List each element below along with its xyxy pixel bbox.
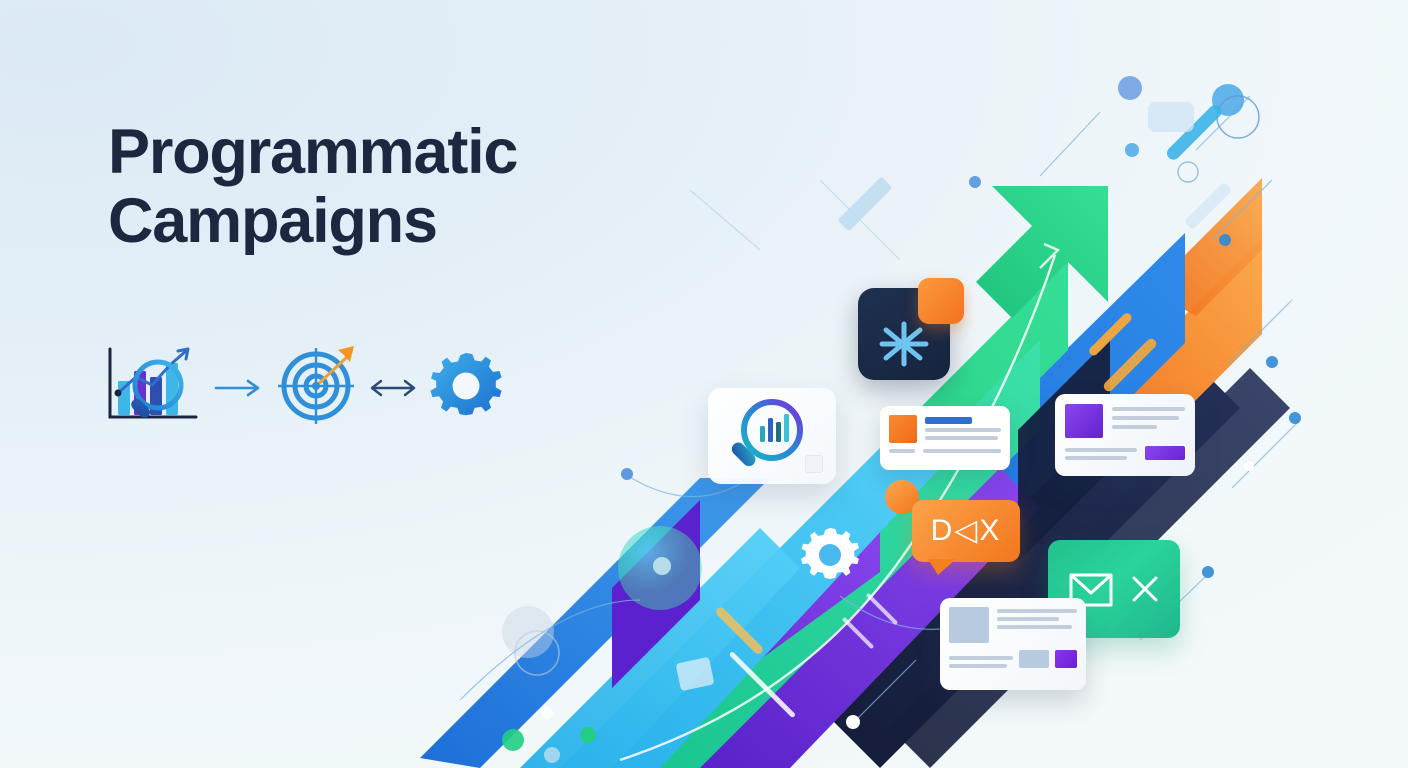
ad-text-line <box>923 449 1001 453</box>
ad-text-line <box>1112 425 1157 429</box>
bar-chart-magnifier-icon <box>100 341 204 431</box>
card-corner-square <box>805 455 823 473</box>
content-accent-block <box>1055 650 1077 668</box>
process-connector-arrow <box>210 368 268 408</box>
process-step-analytics[interactable] <box>100 341 204 436</box>
circle-grey-1 <box>502 606 554 658</box>
process-icon-row <box>100 340 500 436</box>
ad-thumbnail <box>1065 404 1103 438</box>
ad-text-line <box>1065 448 1137 452</box>
content-text-line <box>949 656 1013 660</box>
content-text-line <box>949 664 1007 668</box>
ad-text-line <box>1065 456 1127 460</box>
page-title-line-1: Programmatic <box>108 117 517 187</box>
ad-cta-button[interactable] <box>1145 446 1185 460</box>
process-step-targeting[interactable] <box>274 344 358 433</box>
ad-headline-bar <box>925 417 972 424</box>
arrow-left-right-icon <box>366 375 420 401</box>
chat-bubble-glyph: D◁X <box>931 516 1002 546</box>
gear-icon <box>428 348 504 424</box>
content-text-line <box>997 617 1059 621</box>
content-text-line <box>997 609 1077 613</box>
ad-text-line <box>1112 416 1179 420</box>
target-arrow-icon <box>274 344 358 428</box>
ad-text-line <box>889 449 915 453</box>
ad-thumbnail <box>889 415 917 443</box>
content-thumbnail <box>949 607 989 643</box>
process-step-automation[interactable] <box>428 348 504 429</box>
search-insights-card[interactable] <box>708 388 836 484</box>
content-feed-card[interactable] <box>940 598 1086 690</box>
gear-icon <box>799 524 861 586</box>
native-ad-card[interactable] <box>1055 394 1195 476</box>
display-ad-card[interactable] <box>880 406 1010 470</box>
content-image-block <box>1019 650 1049 668</box>
ad-text-line <box>1112 407 1185 411</box>
process-connector-double-arrow <box>364 368 422 408</box>
ad-text-line <box>925 436 998 440</box>
notification-badge <box>918 278 964 324</box>
arrow-right-icon <box>212 375 266 401</box>
ad-text-line <box>925 428 1001 432</box>
analytics-app-tile[interactable] <box>858 288 950 380</box>
circle-inner-dot <box>653 557 671 575</box>
content-text-line <box>997 625 1072 629</box>
page-title-line-2: Campaigns <box>108 187 728 256</box>
page-title: Programmatic Campaigns <box>108 118 728 255</box>
chat-bubble[interactable]: D◁X <box>912 500 1020 562</box>
hero-banner: D◁X <box>0 0 1408 768</box>
settings-gear-icon[interactable] <box>799 524 861 586</box>
close-x-icon <box>1127 571 1163 607</box>
